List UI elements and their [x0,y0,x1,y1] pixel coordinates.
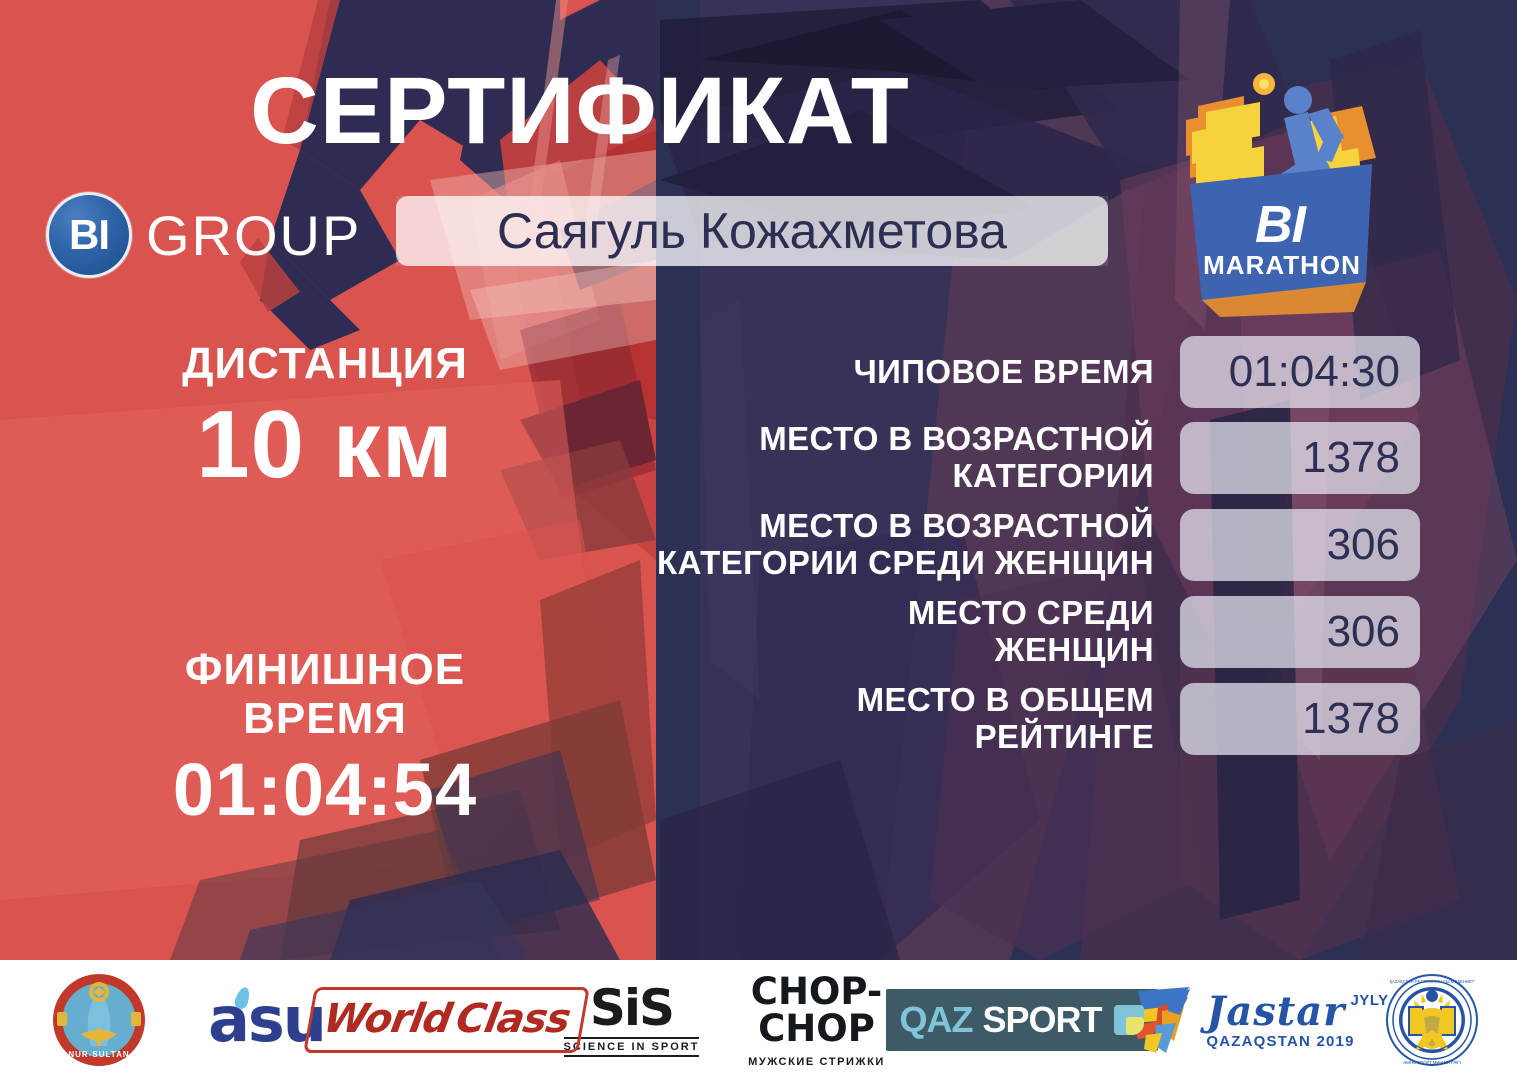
qazsport-text-1: QAZ [900,999,973,1041]
qazsport-square-icon [1114,1005,1144,1035]
jastar-wordmark: Jastar JYLY QAZAQSTAN 2019 [1206,990,1354,1050]
world-class-wordmark: World Class [303,987,590,1053]
jastar-text-main: Jastar [1206,992,1354,1032]
page-title: СЕРТИФИКАТ [0,62,1160,162]
stat-value: 306 [1327,607,1400,657]
nur-sultan-emblem-icon: NUR-SULTAN [51,972,147,1068]
world-class-text-1: World [320,996,455,1042]
stat-value-pill: 01:04:30 [1180,336,1420,408]
stat-label: ЧИПОВОЕ ВРЕМЯ [500,354,1180,391]
participant-name-field: Саягуль Кожахметова [396,196,1108,266]
participant-name: Саягуль Кожахметова [497,202,1007,260]
stat-label: МЕСТО В ОБЩЕМ РЕЙТИНГЕ [500,682,1180,756]
svg-text:ҚАЗАҚСТАН РЕСПУБЛИКАСЫ МӘДЕНИЕ: ҚАЗАҚСТАН РЕСПУБЛИКАСЫ МӘДЕНИЕТ [1389,979,1474,984]
bi-badge-icon: BI [46,192,132,278]
bi-badge-text: BI [69,214,109,256]
svg-text:BI: BI [1255,196,1308,254]
stat-row-chip-time: ЧИПОВОЕ ВРЕМЯ 01:04:30 [500,336,1420,408]
stat-value-pill: 306 [1180,509,1420,581]
stat-value: 306 [1327,520,1400,570]
svg-text:NUR-SULTAN: NUR-SULTAN [68,1050,129,1059]
sponsor-ministry-sport: ҚАЗАҚСТАН РЕСПУБЛИКАСЫ МӘДЕНИЕТ ЖӘНЕ СПО… [1357,968,1507,1072]
stat-label: МЕСТО В ВОЗРАСТНОЙ КАТЕГОРИИ СРЕДИ ЖЕНЩИ… [500,508,1180,582]
stat-value: 1378 [1302,694,1400,744]
stat-value: 01:04:30 [1229,347,1400,397]
jastar-text-sub: QAZAQSTAN 2019 [1206,1033,1354,1050]
kazakhstan-sport-ministry-emblem-icon: ҚАЗАҚСТАН РЕСПУБЛИКАСЫ МӘДЕНИЕТ ЖӘНЕ СПО… [1384,972,1480,1068]
qazsport-text-2: SPORT [983,999,1102,1041]
svg-text:ЖӘНЕ СПОРТ МИНИСТРЛІГІ: ЖӘНЕ СПОРТ МИНИСТРЛІГІ [1403,1060,1461,1065]
stat-value-pill: 1378 [1180,683,1420,755]
stat-label: МЕСТО СРЕДИ ЖЕНЩИН [500,595,1180,669]
chop-chop-text-sub: МУЖСКИЕ СТРИЖКИ [717,1056,917,1068]
sponsor-qazsport: QAZ SPORT [917,968,1127,1072]
sponsor-bar: NUR-SULTAN asu World Class SiS SCIENCE I… [0,960,1517,1080]
results-stats-list: ЧИПОВОЕ ВРЕМЯ 01:04:30 МЕСТО В ВОЗРАСТНО… [500,336,1420,769]
stat-label: МЕСТО В ВОЗРАСТНОЙ КАТЕГОРИИ [500,421,1180,495]
qazsport-wordmark: QAZ SPORT [886,989,1158,1051]
stat-row-women-place: МЕСТО СРЕДИ ЖЕНЩИН 306 [500,595,1420,669]
stat-value: 1378 [1302,433,1400,483]
bi-marathon-logo: BI MARATHON [1176,62,1406,317]
sponsor-nur-sultan: NUR-SULTAN [11,968,187,1072]
stat-row-age-category-place: МЕСТО В ВОЗРАСТНОЙ КАТЕГОРИИ 1378 [500,421,1420,495]
stat-row-overall-place: МЕСТО В ОБЩЕМ РЕЙТИНГЕ 1378 [500,682,1420,756]
certificate-page: СЕРТИФИКАТ BI GROUP Саягуль Кожахметова [0,0,1517,1080]
bi-group-logo: BI GROUP [46,192,361,278]
stat-value-pill: 306 [1180,596,1420,668]
svg-text:MARATHON: MARATHON [1203,250,1361,280]
stat-value-pill: 1378 [1180,422,1420,494]
world-class-text-2: Class [453,996,574,1042]
sponsor-world-class: World Class [347,968,547,1072]
bi-group-wordmark: GROUP [146,203,361,268]
sis-text-sub: SCIENCE IN SPORT [564,1037,700,1057]
jastar-text-super: JYLY [1350,992,1388,1009]
stat-row-age-category-women-place: МЕСТО В ВОЗРАСТНОЙ КАТЕГОРИИ СРЕДИ ЖЕНЩИ… [500,508,1420,582]
jastar-logo: Jastar JYLY QAZAQSTAN 2019 [1128,985,1354,1055]
sponsor-jastar: Jastar JYLY QAZAQSTAN 2019 [1127,968,1357,1072]
